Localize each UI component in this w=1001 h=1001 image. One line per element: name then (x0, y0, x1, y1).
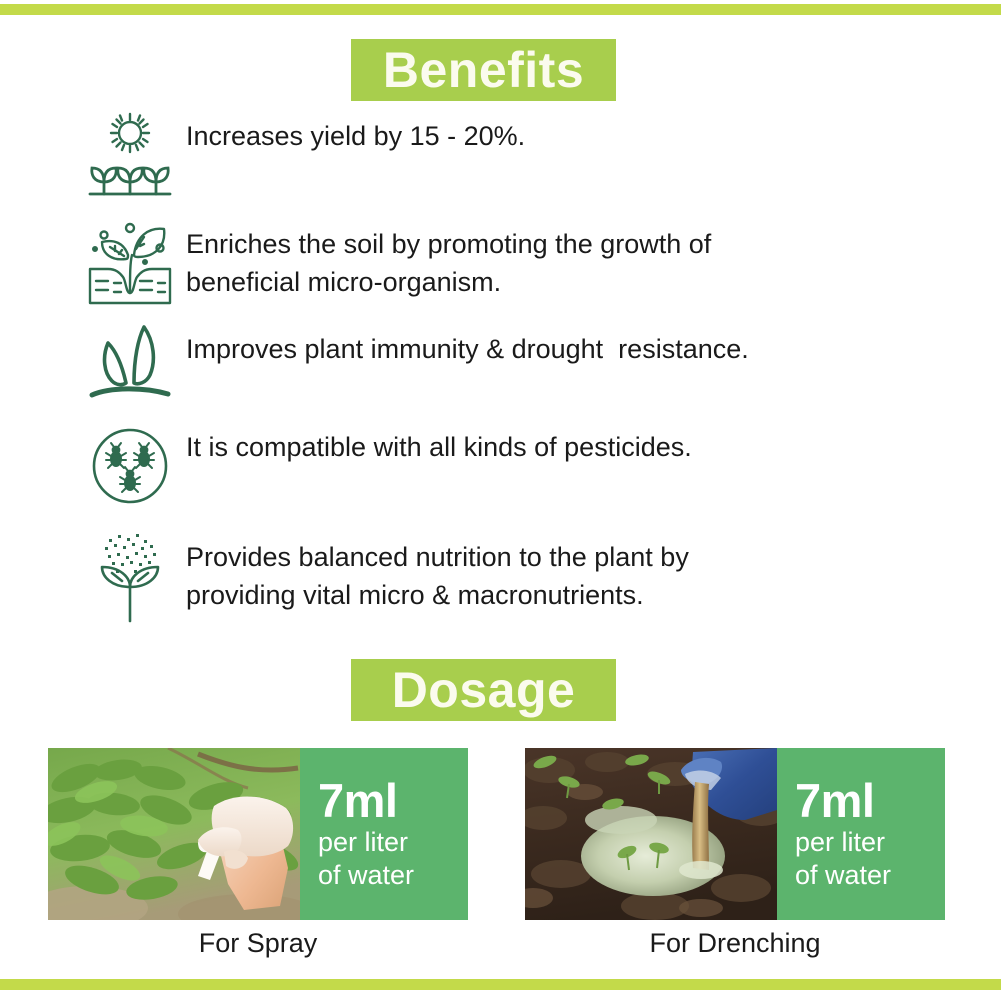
dosage-sub-line-1: per liter (318, 828, 468, 858)
benefit-item: Provides balanced nutrition to the plant… (74, 527, 934, 627)
dosage-sub-line-1: per liter (795, 828, 945, 858)
benefit-item: Increases yield by 15 - 20%. (74, 106, 934, 201)
plant-in-soil-icon (74, 214, 186, 306)
dosage-sub-line-2: of water (795, 861, 945, 891)
dosage-sub-line-2: of water (318, 861, 468, 891)
benefits-heading-banner: Benefits (351, 39, 616, 101)
dosage-caption-spray: For Spray (48, 928, 468, 959)
benefits-heading-text: Benefits (383, 45, 584, 95)
sun-over-seedlings-icon (74, 106, 186, 201)
sprout-with-nutrients-icon (74, 527, 186, 627)
benefit-item-text: Provides balanced nutrition to the plant… (186, 527, 689, 615)
dosage-caption-drench: For Drenching (525, 928, 945, 959)
benefit-item: It is compatible with all kinds of pesti… (74, 417, 934, 514)
benefit-item-text: It is compatible with all kinds of pesti… (186, 417, 692, 466)
benefit-item-text: Improves plant immunity & drought resist… (186, 319, 749, 368)
dosage-heading-banner: Dosage (351, 659, 616, 721)
dosage-card-drench: 7ml per liter of water (525, 748, 945, 920)
top-accent-bar (0, 4, 1001, 15)
dosage-amount: 7ml (795, 777, 945, 825)
two-leaves-icon (74, 319, 186, 404)
dosage-card-spray: 7ml per liter of water (48, 748, 468, 920)
bucket-pouring-on-soil-photo (525, 748, 777, 920)
benefit-item: Improves plant immunity & drought resist… (74, 319, 934, 404)
hand-spraying-plants-photo (48, 748, 300, 920)
insects-in-circle-icon (74, 417, 186, 514)
infographic-page: Benefits (0, 0, 1001, 1001)
bottom-accent-bar (0, 979, 1001, 990)
benefits-list: Increases yield by 15 - 20%. (74, 106, 934, 640)
benefit-item-text: Enriches the soil by promoting the growt… (186, 214, 711, 302)
dosage-heading-text: Dosage (392, 665, 576, 715)
dosage-panel-drench: 7ml per liter of water (777, 748, 945, 920)
benefit-item-text: Increases yield by 15 - 20%. (186, 106, 525, 155)
benefit-item: Enriches the soil by promoting the growt… (74, 214, 934, 306)
dosage-panel-spray: 7ml per liter of water (300, 748, 468, 920)
dosage-amount: 7ml (318, 777, 468, 825)
